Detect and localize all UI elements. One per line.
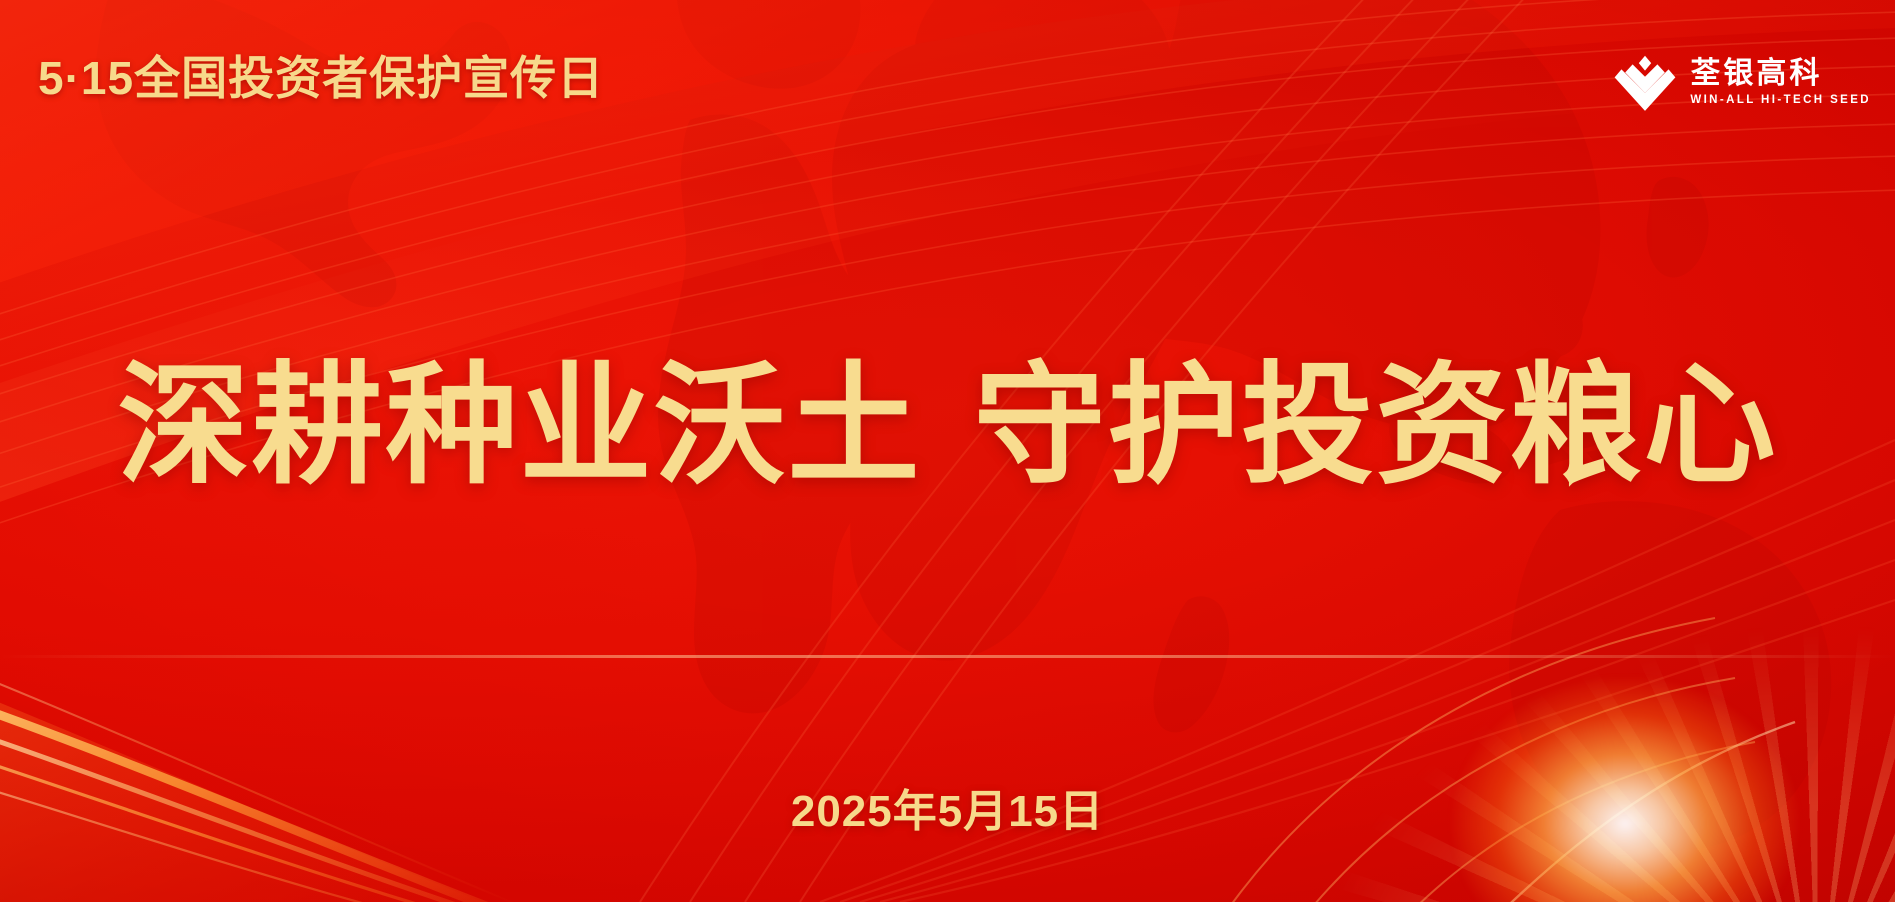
poster-content: 5·15全国投资者保护宣传日 荃银高科 WIN-ALL HI-TECH SEE: [0, 0, 1895, 902]
headline-part-2: 守护投资粮心: [974, 352, 1778, 499]
logo-name-cn: 荃银高科: [1690, 58, 1871, 90]
headline-part-1: 深耕种业沃土: [118, 352, 922, 499]
logo-text-block: 荃银高科 WIN-ALL HI-TECH SEED: [1690, 58, 1871, 107]
chevron-v-mark-icon: [1614, 52, 1676, 114]
company-logo: 荃银高科 WIN-ALL HI-TECH SEED: [1614, 52, 1871, 114]
event-title: 5·15全国投资者保护宣传日: [38, 55, 604, 101]
poster-canvas: 5·15全国投资者保护宣传日 荃银高科 WIN-ALL HI-TECH SEE: [0, 0, 1895, 902]
event-date: 2025年5月15日: [0, 790, 1895, 834]
logo-name-en: WIN-ALL HI-TECH SEED: [1690, 94, 1871, 108]
headline: 深耕种业沃土守护投资粮心: [0, 352, 1895, 500]
